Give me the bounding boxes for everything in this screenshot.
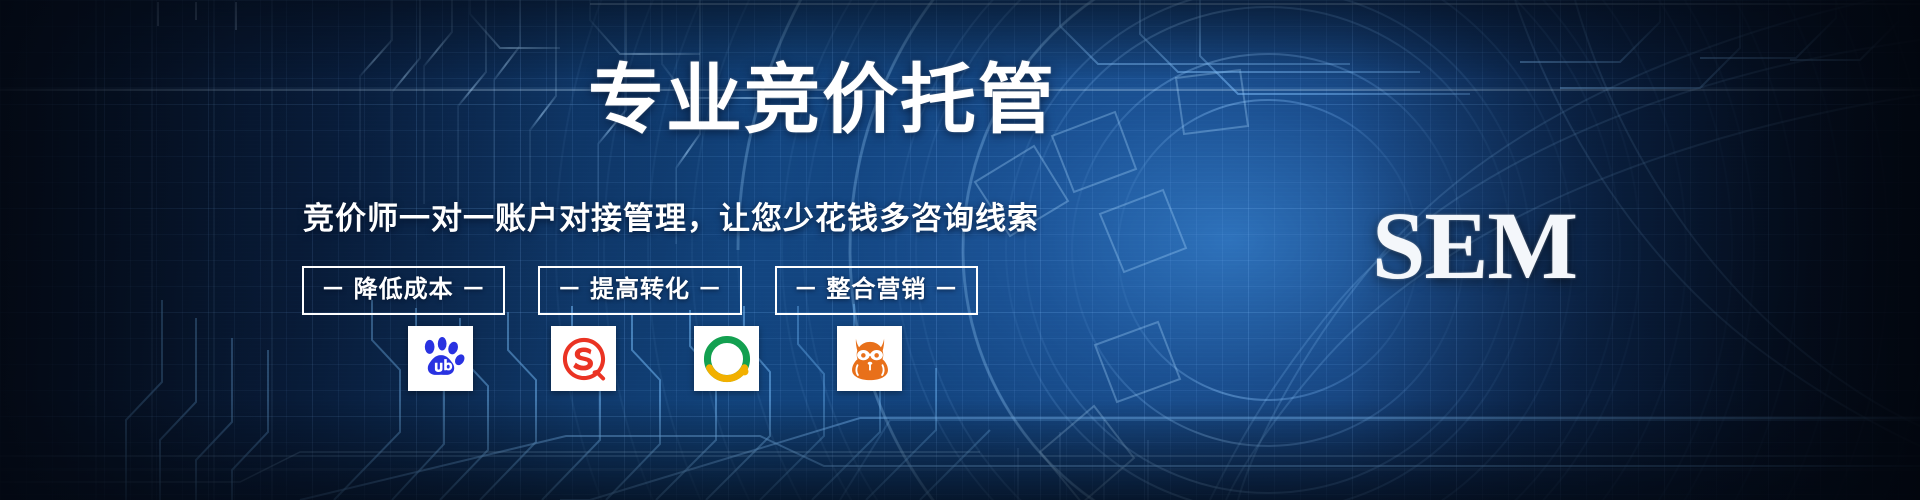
feature-badge-label: － 整合营销 － [794, 276, 959, 304]
shenma-logo-icon [845, 334, 895, 384]
sogou-logo-icon [559, 334, 609, 384]
feature-badge-label: － 降低成本 － [321, 276, 486, 304]
platform-logo-tile-baidu[interactable] [408, 326, 473, 391]
sem-wordmark: SEM [1372, 196, 1577, 296]
banner-subtitle: 竞价师一对一账户对接管理，让您少花钱多咨询线索 [303, 198, 1039, 240]
platform-logo-list [408, 326, 902, 391]
360-logo-icon [702, 334, 752, 384]
baidu-logo-icon [416, 334, 466, 384]
feature-badge-lower-cost[interactable]: － 降低成本 － [302, 266, 505, 315]
sem-hosting-banner: 专业竞价托管 竞价师一对一账户对接管理，让您少花钱多咨询线索 － 降低成本 － … [0, 0, 1920, 500]
platform-logo-tile-shenma[interactable] [837, 326, 902, 391]
feature-badge-list: － 降低成本 － － 提高转化 － － 整合营销 － [302, 266, 978, 315]
banner-content: 专业竞价托管 竞价师一对一账户对接管理，让您少花钱多咨询线索 － 降低成本 － … [0, 0, 1920, 500]
banner-title: 专业竞价托管 [588, 58, 1056, 144]
platform-logo-tile-360[interactable] [694, 326, 759, 391]
feature-badge-raise-conversion[interactable]: － 提高转化 － [538, 266, 741, 315]
platform-logo-tile-sogou[interactable] [551, 326, 616, 391]
feature-badge-integrated-marketing[interactable]: － 整合营销 － [775, 266, 978, 315]
feature-badge-label: － 提高转化 － [557, 276, 722, 304]
